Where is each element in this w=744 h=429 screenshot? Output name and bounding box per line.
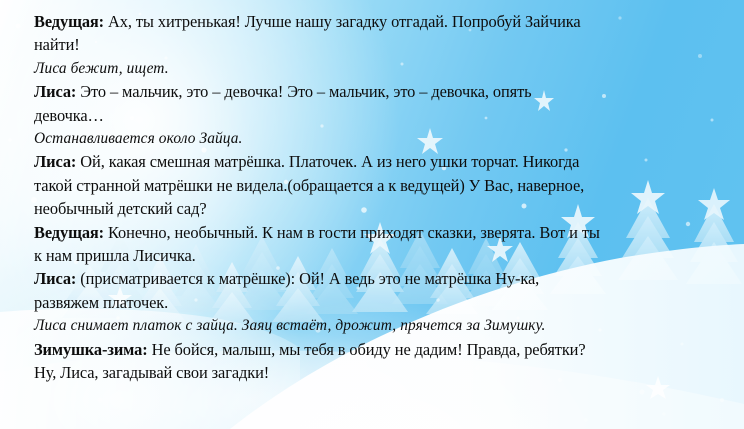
line-text: (присматривается к матрёшке): Ой! А ведь… — [76, 269, 539, 288]
line-text: Лиса снимает платок с зайца. Заяц встаёт… — [34, 317, 546, 334]
line-text: найти! — [34, 35, 80, 54]
line-text: Это – мальчик, это – девочка! Это – маль… — [76, 82, 531, 101]
script-line: к нам пришла Лисичка. — [34, 244, 724, 267]
script-line: Ведущая: Ах, ты хитренькая! Лучше нашу з… — [34, 10, 724, 33]
line-text: девочка… — [34, 106, 104, 125]
slide-canvas: Ведущая: Ах, ты хитренькая! Лучше нашу з… — [0, 0, 744, 429]
speaker-label: Ведущая: — [34, 12, 104, 31]
line-text: к нам пришла Лисичка. — [34, 246, 196, 265]
script-line: Лиса: Это – мальчик, это – девочка! Это … — [34, 80, 724, 103]
line-text: необычный детский сад? — [34, 199, 207, 218]
stage-direction: Лиса бежит, ищет. — [34, 57, 724, 80]
line-text: развяжем платочек. — [34, 293, 168, 312]
script-line: Лиса: Ой, какая смешная матрёшка. Платоч… — [34, 150, 724, 173]
line-text: Лиса бежит, ищет. — [34, 60, 169, 77]
speaker-label: Ведущая: — [34, 223, 104, 242]
line-text: Не бойся, малыш, мы тебя в обиду не дади… — [148, 340, 586, 359]
speaker-label: Зимушка-зима: — [34, 340, 148, 359]
speaker-label: Лиса: — [34, 82, 76, 101]
script-line: найти! — [34, 33, 724, 56]
script-line: развяжем платочек. — [34, 291, 724, 314]
line-text: Конечно, необычный. К нам в гости приход… — [104, 223, 600, 242]
speaker-label: Лиса: — [34, 269, 76, 288]
line-text: Ой, какая смешная матрёшка. Платочек. А … — [76, 152, 579, 171]
script-line: девочка… — [34, 104, 724, 127]
script-line: такой странной матрёшки не видела.(обращ… — [34, 174, 724, 197]
play-script-text: Ведущая: Ах, ты хитренькая! Лучше нашу з… — [34, 10, 724, 385]
line-text: Ах, ты хитренькая! Лучше нашу загадку от… — [104, 12, 581, 31]
script-line: Лиса: (присматривается к матрёшке): Ой! … — [34, 267, 724, 290]
stage-direction: Останавливается около Зайца. — [34, 127, 724, 150]
script-line: Зимушка-зима: Не бойся, малыш, мы тебя в… — [34, 338, 724, 361]
stage-direction: Лиса снимает платок с зайца. Заяц встаёт… — [34, 314, 724, 337]
line-text: Ну, Лиса, загадывай свои загадки! — [34, 363, 269, 382]
script-line: Ведущая: Конечно, необычный. К нам в гос… — [34, 221, 724, 244]
script-line: необычный детский сад? — [34, 197, 724, 220]
script-line: Ну, Лиса, загадывай свои загадки! — [34, 361, 724, 384]
line-text: такой странной матрёшки не видела.(обращ… — [34, 176, 584, 195]
speaker-label: Лиса: — [34, 152, 76, 171]
line-text: Останавливается около Зайца. — [34, 130, 243, 147]
